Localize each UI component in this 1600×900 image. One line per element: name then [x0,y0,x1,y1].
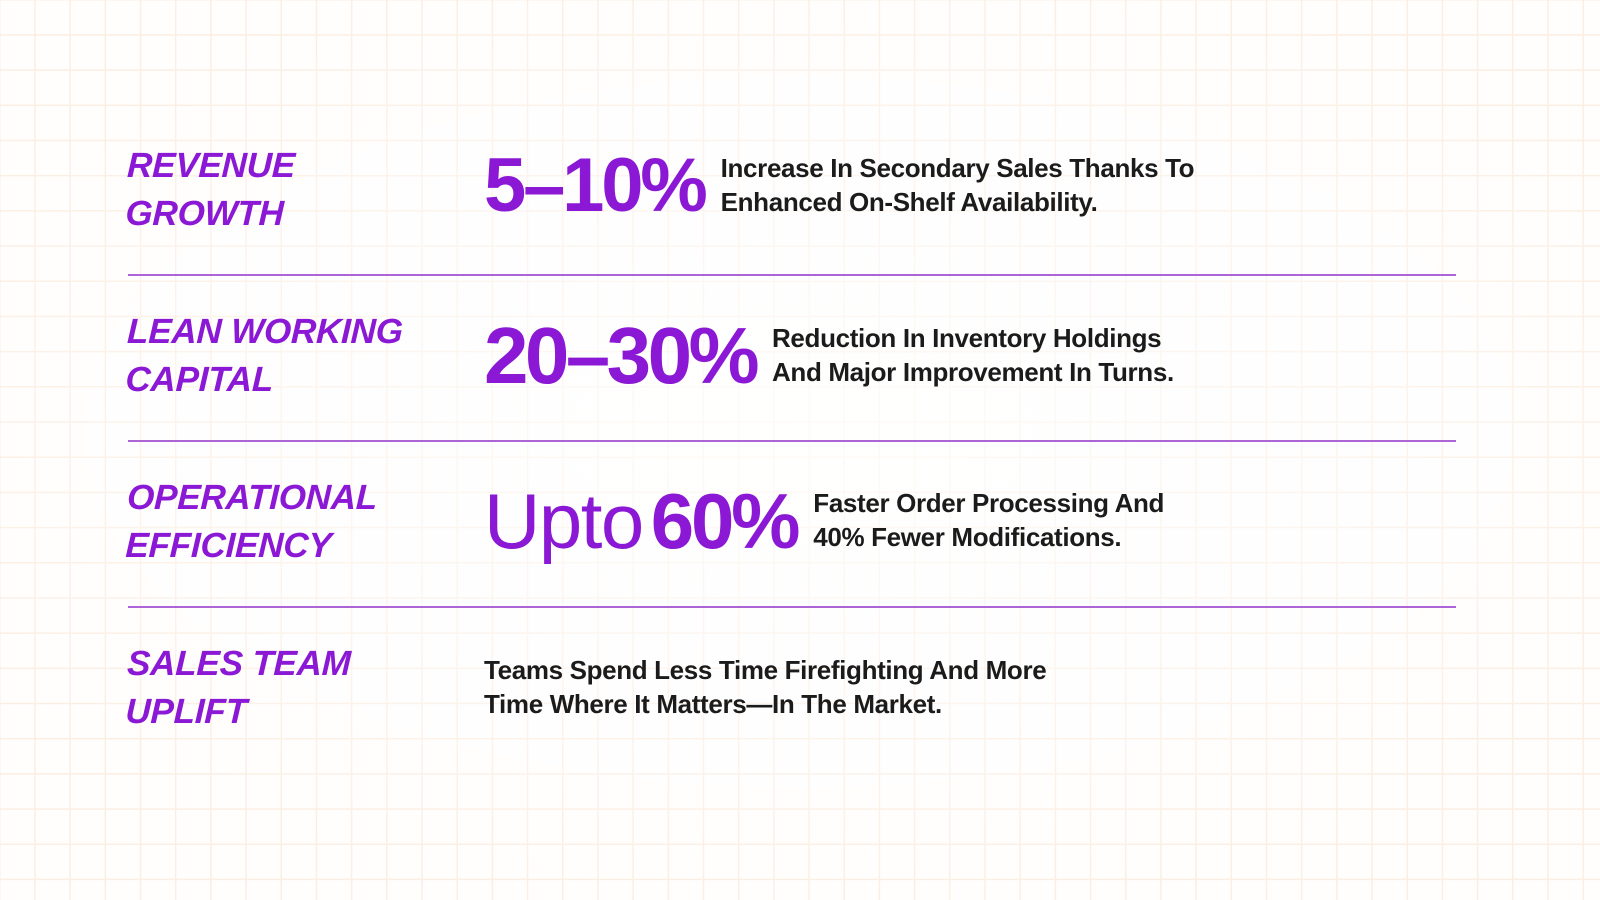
row-divider [128,274,1456,276]
row-divider [128,440,1456,442]
stat-number: 20–30% [484,311,756,400]
stat-number: 60% [651,477,798,565]
stat-description: Reduction In Inventory Holdings And Majo… [772,322,1174,390]
stat-row-label: REVENUE GROWTH [125,142,484,239]
stat-row: SALES TEAM UPLIFT Teams Spend Less Time … [128,640,1456,737]
stat-row: OPERATIONAL EFFICIENCY Upto60% Faster Or… [128,474,1456,583]
infographic-page: REVENUE GROWTH 5–10% Increase In Seconda… [0,0,1600,900]
row-divider [128,606,1456,608]
stat-row-body: Teams Spend Less Time Firefighting And M… [484,654,1456,722]
stat-description: Increase In Secondary Sales Thanks To En… [721,152,1195,220]
stat-value: 5–10% [484,148,705,224]
stat-row-body: 20–30% Reduction In Inventory Holdings A… [484,316,1456,426]
stat-value: Upto60% [484,482,797,560]
stat-prefix: Upto [484,477,643,565]
stat-number: 5–10% [484,143,705,228]
stat-row-label: OPERATIONAL EFFICIENCY [125,474,484,571]
stat-description: Faster Order Processing And 40% Fewer Mo… [813,487,1164,555]
stat-row: REVENUE GROWTH 5–10% Increase In Seconda… [128,142,1456,248]
stat-row-body: Upto60% Faster Order Processing And 40% … [484,482,1456,591]
stat-row-label: LEAN WORKING CAPITAL [125,308,484,405]
grid-background-fade [0,0,1600,900]
stat-row: LEAN WORKING CAPITAL 20–30% Reduction In… [128,308,1456,418]
stat-row-label: SALES TEAM UPLIFT [125,640,484,737]
stat-value: 20–30% [484,316,756,396]
stat-description: Teams Spend Less Time Firefighting And M… [484,654,1046,722]
stat-row-body: 5–10% Increase In Secondary Sales Thanks… [484,148,1456,254]
